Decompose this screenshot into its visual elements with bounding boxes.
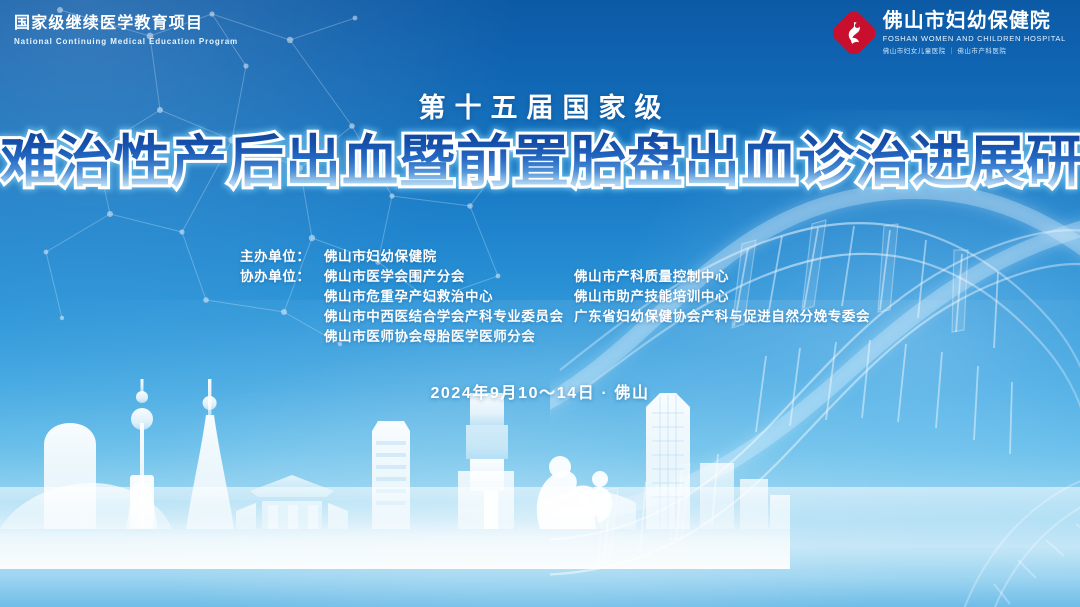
program-title-cn: 国家级继续医学教育项目 [14, 14, 238, 34]
coorganizer-left-4: 佛山市医师协会母胎医学医师分会 [324, 327, 574, 347]
organizer-row-4: 佛山市医师协会母胎医学医师分会 [240, 327, 870, 347]
organizer-row-2: 佛山市危重孕产妇救治中心 佛山市助产技能培训中心 [240, 287, 870, 307]
coorganizer-label: 协办单位： [240, 267, 324, 287]
coorganizer-right-2: 佛山市助产技能培训中心 [574, 287, 729, 307]
city-skyline-illustration [0, 379, 790, 569]
coorganizer-left-1: 佛山市医学会围产分会 [324, 267, 574, 287]
organizer-row-host: 主办单位： 佛山市妇幼保健院 [240, 247, 870, 267]
host-value: 佛山市妇幼保健院 [324, 247, 574, 267]
glow-middle [120, 330, 940, 607]
hospital-name-cn: 佛山市妇幼保健院 [883, 10, 1051, 32]
hospital-name-en: FOSHAN WOMEN AND CHILDREN HOSPITAL [883, 34, 1066, 43]
main-title-fill-layer: 难治性产后出血暨前置胎盘出血诊治进展研讨班 [0, 130, 1080, 193]
host-label: 主办单位： [240, 247, 324, 267]
program-title-en: National Continuing Medical Education Pr… [14, 37, 238, 46]
coorganizer-left-3: 佛山市中西医结合学会产科专业委员会 [324, 307, 574, 327]
program-badge: 国家级继续医学教育项目 National Continuing Medical … [14, 14, 238, 46]
main-title: 难治性产后出血暨前置胎盘出血诊治进展研讨班 难治性产后出血暨前置胎盘出血诊治进展… [0, 132, 1080, 192]
organizer-row-3: 佛山市中西医结合学会产科专业委员会 广东省妇幼保健协会产科与促进自然分娩专委会 [240, 307, 870, 327]
coorganizer-right-1: 佛山市产科质量控制中心 [574, 267, 729, 287]
dna-helix-artwork [550, 120, 1080, 607]
coorganizer-right-3: 广东省妇幼保健协会产科与促进自然分娩专委会 [574, 307, 870, 327]
conference-poster: 国家级继续医学教育项目 National Continuing Medical … [0, 0, 1080, 607]
hospital-emblem-icon [833, 12, 875, 54]
organizer-row-1: 协办单位： 佛山市医学会围产分会 佛山市产科质量控制中心 [240, 267, 870, 287]
water-reflection [0, 487, 1080, 607]
hospital-logo: 佛山市妇幼保健院 FOSHAN WOMEN AND CHILDREN HOSPI… [833, 10, 1066, 55]
organizer-spacer-2 [240, 287, 324, 307]
event-date-location: 2024年9月10〜14日 · 佛山 [0, 379, 1080, 403]
organizer-spacer-3 [240, 307, 324, 327]
organizer-spacer-4 [240, 327, 324, 347]
hospital-subtitle-cn: 佛山市妇女儿童医院 ｜ 佛山市产科医院 [883, 45, 1007, 55]
coorganizer-left-2: 佛山市危重孕产妇救治中心 [324, 287, 574, 307]
edition-title: 第十五届国家级 [0, 86, 1080, 125]
water-sparkle [0, 512, 800, 552]
mother-and-child-sculpture [537, 456, 612, 529]
organizers-block: 主办单位： 佛山市妇幼保健院 协办单位： 佛山市医学会围产分会 佛山市产科质量控… [240, 247, 870, 347]
